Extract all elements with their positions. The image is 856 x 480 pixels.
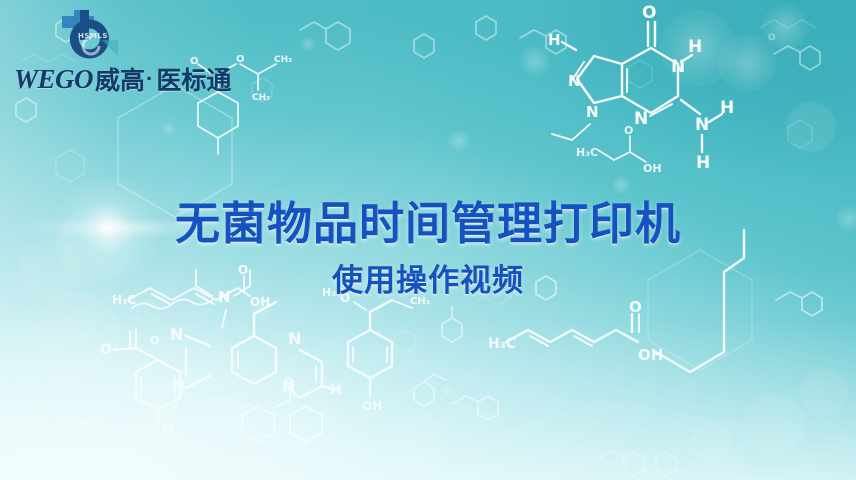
brand-separator: · bbox=[146, 66, 153, 92]
title-block: 无菌物品时间管理打印机 使用操作视频 bbox=[0, 196, 856, 302]
page-title: 无菌物品时间管理打印机 bbox=[0, 196, 856, 252]
brand-cn-text: 威高 bbox=[95, 61, 145, 97]
brand-latin-text: WEGO bbox=[14, 64, 93, 95]
brand-logo-text: WEGO 威高 · 医标通 bbox=[14, 62, 200, 96]
product-cn-text: 医标通 bbox=[156, 61, 231, 97]
brand-logo[interactable]: HSMLS WEGO 威高 · 医标通 bbox=[14, 8, 200, 100]
page-subtitle: 使用操作视频 bbox=[0, 260, 856, 302]
logo-mark-badge: HSMLS bbox=[78, 32, 108, 40]
wego-logo-mark-icon: HSMLS bbox=[58, 8, 122, 64]
video-title-card: .ml { stroke:#ffffff; fill:none; stroke-… bbox=[0, 0, 856, 480]
